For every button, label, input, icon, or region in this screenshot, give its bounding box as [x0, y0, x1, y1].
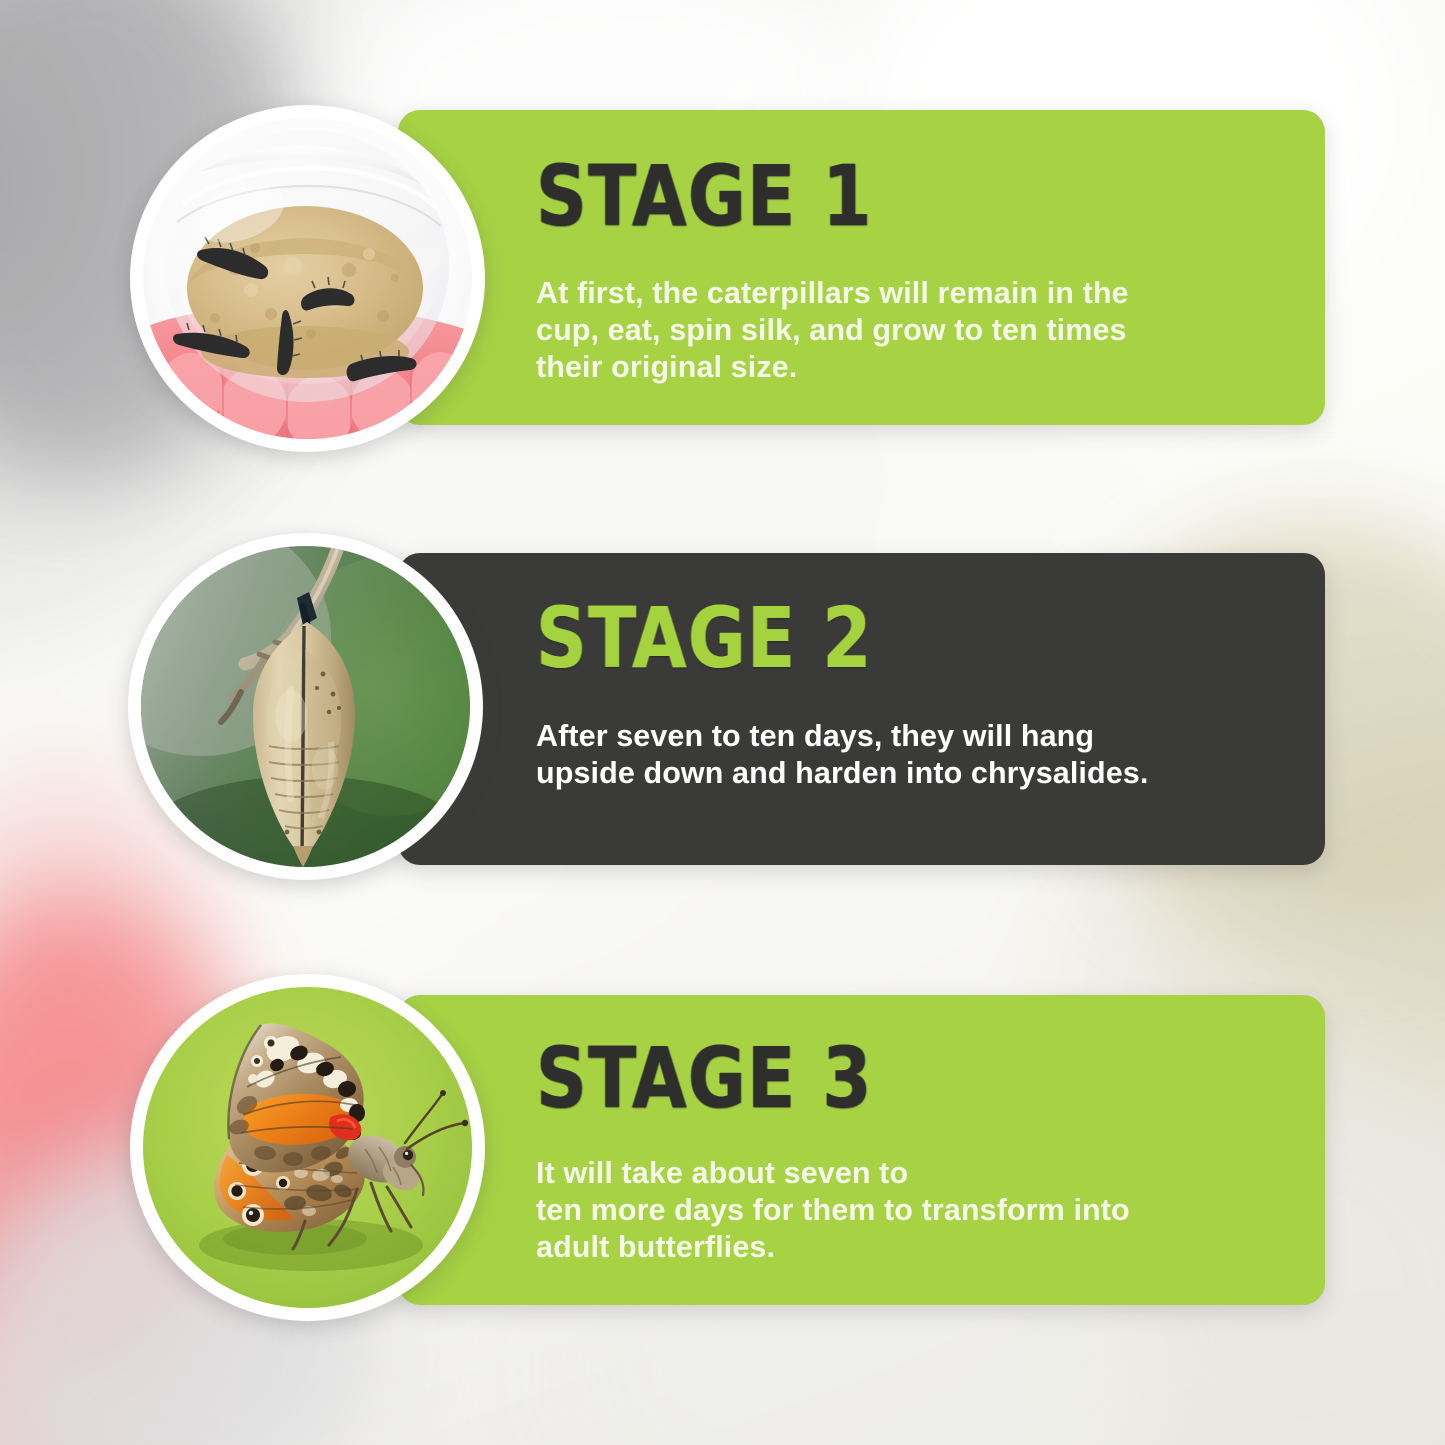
caterpillar-cup-illustration — [143, 118, 472, 439]
stage-3-body: It will take about seven to ten more day… — [536, 1155, 1276, 1266]
chrysalis-photo-inner — [141, 546, 470, 867]
painted-lady-butterfly-photo-inner — [143, 987, 472, 1308]
stage-2-title: STAGE 2 — [536, 600, 873, 677]
chrysalis-photo — [128, 533, 483, 880]
chrysalis-illustration — [141, 546, 470, 867]
caterpillar-cup-photo-inner — [143, 118, 472, 439]
caterpillar-cup-photo — [130, 105, 485, 452]
stage-1-title: STAGE 1 — [536, 158, 873, 235]
stage-1-body: At first, the caterpillars will remain i… — [536, 275, 1276, 386]
painted-lady-butterfly-illustration — [143, 987, 472, 1308]
stage-3-title: STAGE 3 — [536, 1040, 873, 1117]
painted-lady-butterfly-photo — [130, 974, 485, 1321]
infographic-canvas: STAGE 1 At first, the caterpillars will … — [0, 0, 1445, 1445]
stage-2-body: After seven to ten days, they will hang … — [536, 718, 1276, 792]
